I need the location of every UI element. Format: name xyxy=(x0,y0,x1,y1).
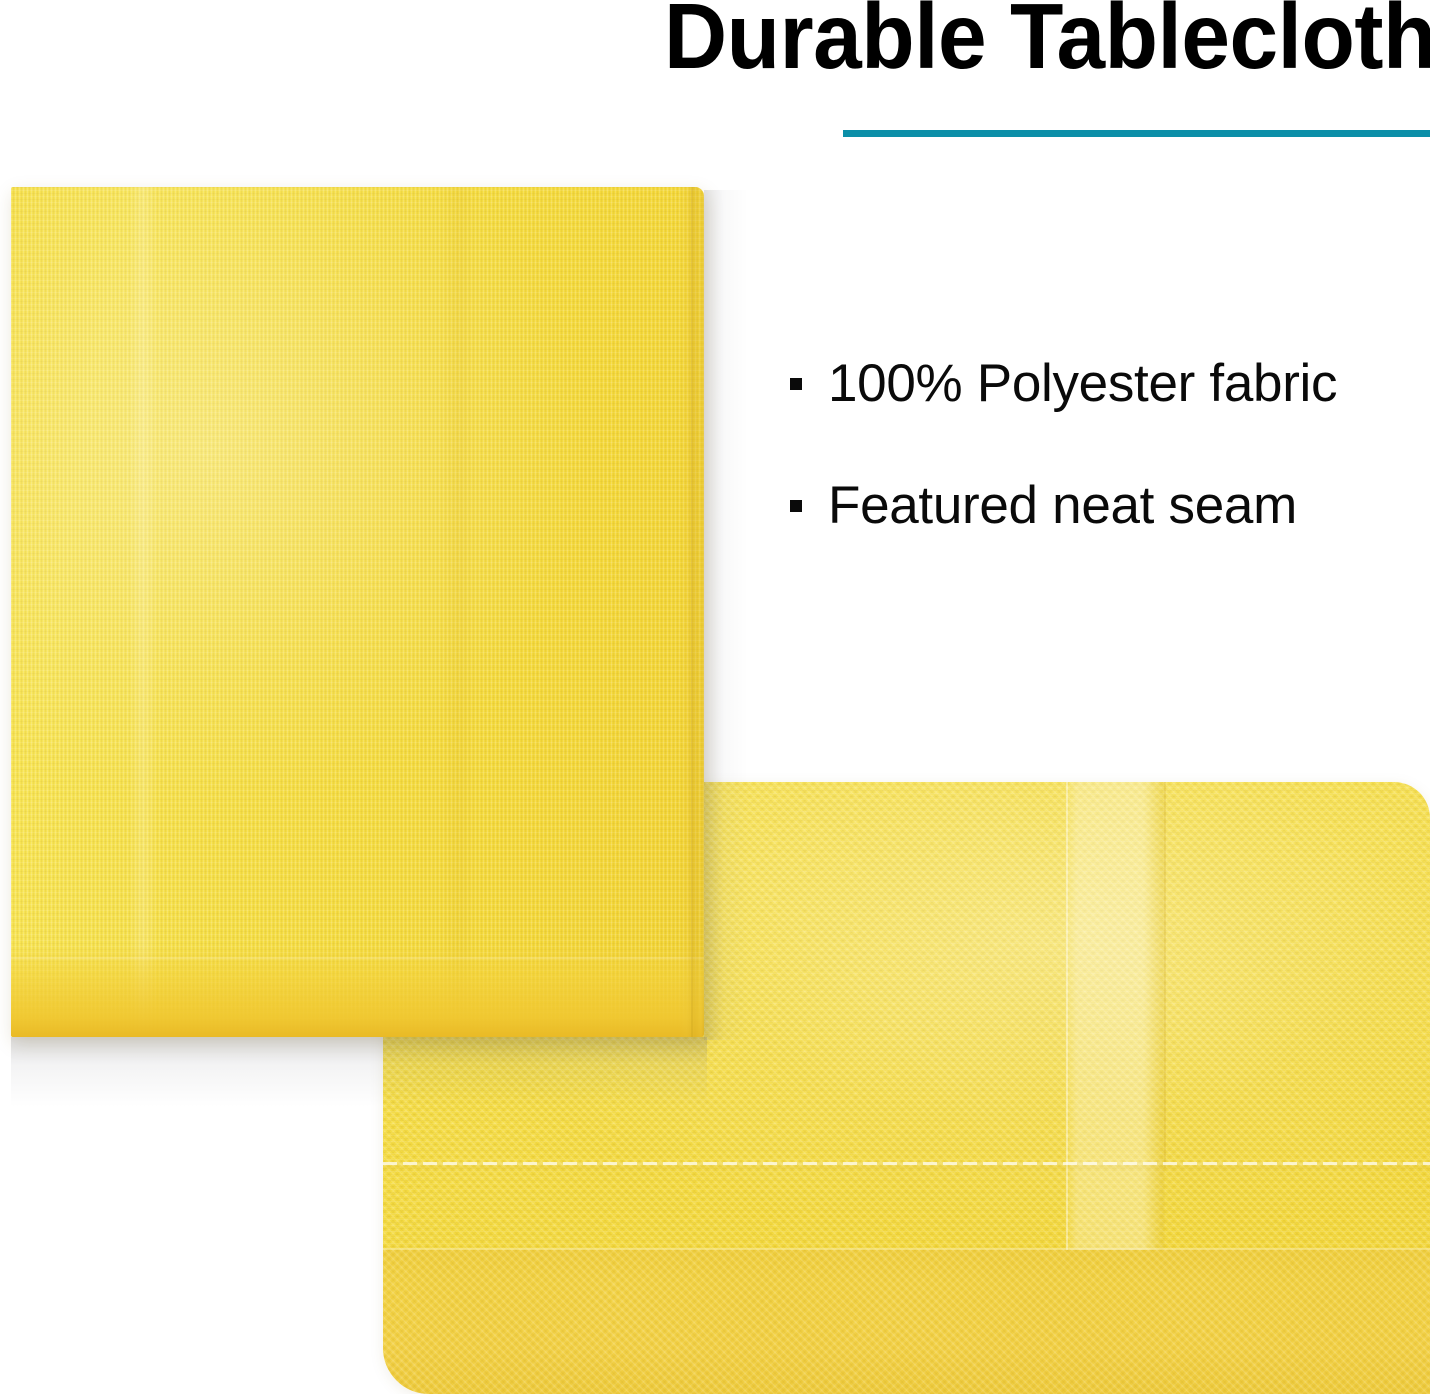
title-block: Durable Tablecloth xyxy=(660,0,1430,148)
feature-label: Featured neat seam xyxy=(828,476,1297,535)
bottom-roll-shadow xyxy=(11,945,704,1037)
vertical-hem-band xyxy=(1065,782,1165,1254)
product-feature-image: Durable Tablecloth 100% Polyester fabric… xyxy=(0,0,1430,1394)
bottom-roll-highlight xyxy=(11,957,704,961)
bottom-fold-band xyxy=(383,1250,1430,1394)
fabric-warp-texture xyxy=(11,187,704,1037)
title-underline-rule xyxy=(843,130,1430,137)
fabric-crease-center xyxy=(441,187,475,1037)
square-bullet-icon xyxy=(790,378,802,390)
horizontal-seam-stitch xyxy=(383,1162,1430,1165)
vertical-seam-stitch xyxy=(1066,782,1068,1254)
folded-tablecloth-front xyxy=(11,187,704,1037)
vertical-seam-stitch-inner xyxy=(1164,782,1166,1168)
fabric-crease-left xyxy=(129,187,157,1037)
feature-label: 100% Polyester fabric xyxy=(828,354,1337,413)
feature-list: 100% Polyester fabric Featured neat seam xyxy=(788,352,1418,538)
fabric-weft-texture-front xyxy=(11,187,704,1037)
square-bullet-icon xyxy=(790,500,802,512)
right-fold-edge xyxy=(680,187,704,1037)
right-fold-crease xyxy=(691,187,693,1037)
fabric-weave-texture-band xyxy=(383,1250,1430,1394)
bottom-fold-highlight xyxy=(383,1248,1430,1252)
horizontal-seam-shadow xyxy=(383,1165,1430,1173)
page-title: Durable Tablecloth xyxy=(664,0,1384,84)
fabric-sheen-front xyxy=(11,187,704,1037)
feature-item-seam: Featured neat seam xyxy=(788,474,1418,538)
feature-item-polyester: 100% Polyester fabric xyxy=(788,352,1418,416)
